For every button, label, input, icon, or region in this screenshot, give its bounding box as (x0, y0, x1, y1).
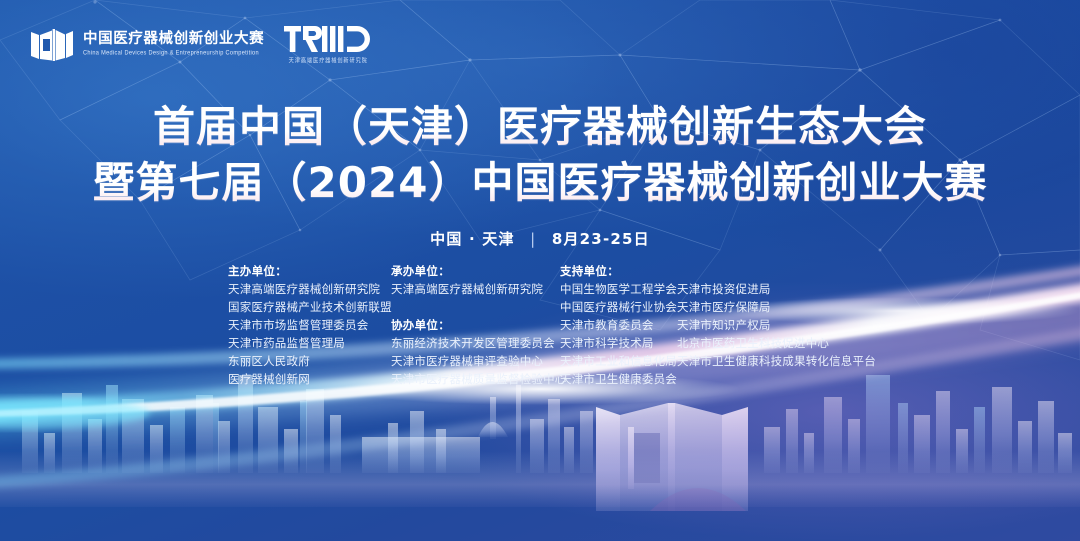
supporter-item: 天津市工业和信息化局 (560, 352, 677, 370)
supporter-item: 中国医疗器械行业协会 (560, 298, 677, 316)
event-location: 中国 · 天津 (430, 230, 515, 248)
supporter-item: 北京市医药卫生科技促进中心 (677, 334, 876, 352)
cohost-item: 东丽经济技术开发区管理委员会 (391, 334, 560, 352)
cohost-heading: 协办单位： (391, 316, 560, 334)
supporters-column-b: 天津市投资促进局 天津市医疗保障局 天津市知识产权局 北京市医药卫生科技促进中心… (677, 262, 876, 370)
event-meta: 中国 · 天津 | 8月23-25日 (0, 228, 1080, 249)
brand-name-en: China Medical Devices Design & Entrepren… (83, 50, 264, 58)
event-date: 8月23-25日 (552, 230, 650, 248)
triid-wordmark-icon (284, 24, 372, 54)
brand-name-cn: 中国医疗器械创新创业大赛 (83, 31, 264, 48)
title-line-1: 首届中国（天津）医疗器械创新生态大会 (0, 99, 1080, 155)
organizer-item: 医疗器械创新网 (228, 370, 391, 388)
institute-name-cn: 天津高端医疗器械创新研究院 (289, 56, 368, 64)
title-line-2: 暨第七届（2024）中国医疗器械创新创业大赛 (0, 155, 1080, 211)
supporter-item: 天津市医疗保障局 (677, 298, 876, 316)
cohost-item: 天津市医疗器械审评查验中心 (391, 352, 560, 370)
institute-brand: 天津高端医疗器械创新研究院 (284, 24, 372, 64)
competition-brand: 中国医疗器械创新创业大赛 China Medical Devices Desig… (30, 24, 264, 64)
supporter-item: 天津市卫生健康委员会 (560, 370, 677, 388)
supporters-heading: 支持单位： (560, 262, 677, 280)
supporter-item: 天津市卫生健康科技成果转化信息平台 (677, 352, 876, 370)
host-heading: 承办单位： (391, 262, 560, 280)
conference-poster: 中国医疗器械创新创业大赛 China Medical Devices Desig… (0, 0, 1080, 541)
organizer-item: 天津市市场监督管理委员会 (228, 316, 391, 334)
organizer-item: 天津高端医疗器械创新研究院 (228, 280, 391, 298)
supporter-item: 天津市科学技术局 (560, 334, 677, 352)
supporter-item: 天津市投资促进局 (677, 280, 876, 298)
host-column: 承办单位： 天津高端医疗器械创新研究院 协办单位： 东丽经济技术开发区管理委员会… (391, 262, 560, 388)
supporter-item: 天津市教育委员会 (560, 316, 677, 334)
supporter-item: 中国生物医学工程学会 (560, 280, 677, 298)
open-gate-logo-icon (30, 24, 74, 64)
organizer-item: 国家医疗器械产业技术创新联盟 (228, 298, 391, 316)
supporter-item: 天津市知识产权局 (677, 316, 876, 334)
poster-title: 首届中国（天津）医疗器械创新生态大会 暨第七届（2024）中国医疗器械创新创业大… (0, 99, 1080, 211)
supporters-column-a: 支持单位： 中国生物医学工程学会 中国医疗器械行业协会 天津市教育委员会 天津市… (560, 262, 677, 388)
units-block: 主办单位： 天津高端医疗器械创新研究院 国家医疗器械产业技术创新联盟 天津市市场… (228, 262, 876, 388)
poster-header: 中国医疗器械创新创业大赛 China Medical Devices Desig… (30, 24, 372, 64)
cohost-item: 天津市医疗器械质量监督检验中心 (391, 370, 560, 388)
organizers-column: 主办单位： 天津高端医疗器械创新研究院 国家医疗器械产业技术创新联盟 天津市市场… (228, 262, 391, 388)
organizer-item: 天津市药品监督管理局 (228, 334, 391, 352)
meta-separator: | (530, 230, 536, 248)
column-spacer (391, 298, 560, 316)
organizer-item: 东丽区人民政府 (228, 352, 391, 370)
host-item: 天津高端医疗器械创新研究院 (391, 280, 560, 298)
organizers-heading: 主办单位： (228, 262, 391, 280)
